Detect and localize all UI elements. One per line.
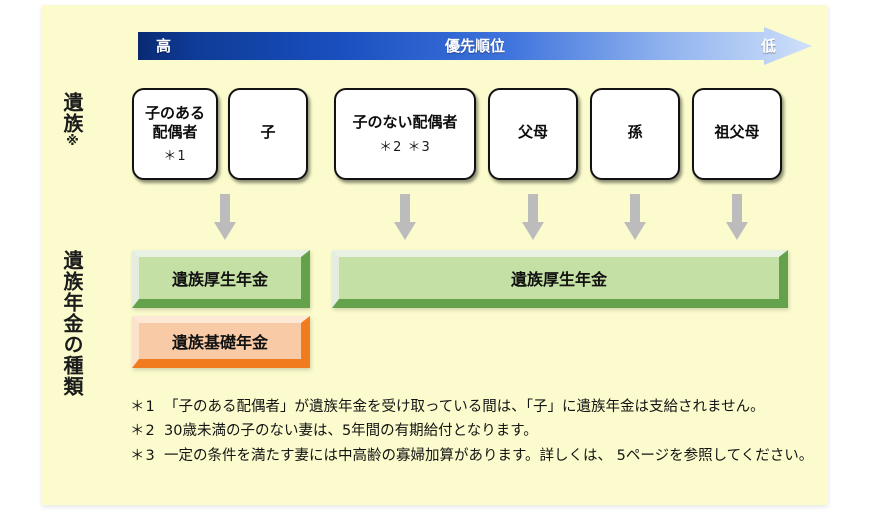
footnote-text: 30歳未満の子のない妻は、5年間の有期給付となります。 <box>164 420 820 442</box>
footnotes-block: ＊1 「子のある配偶者」が遺族年金を受け取っている間は、「子」に遺族年金は支給さ… <box>130 396 820 469</box>
beneficiary-note: ＊2 ＊3 <box>379 136 431 155</box>
pension-bar-kousei-right[interactable]: 遺族厚生年金 <box>332 250 788 308</box>
footnote-marker: ＊2 <box>130 420 164 442</box>
priority-center-label: 優先順位 <box>138 27 812 65</box>
pension-bar-kiso-left[interactable]: 遺族基礎年金 <box>132 316 310 368</box>
beneficiary-title: 父母 <box>518 123 548 142</box>
pension-bar-kousei-left[interactable]: 遺族厚生年金 <box>132 250 310 308</box>
footnote-marker: ＊3 <box>130 445 164 467</box>
beneficiary-title: 孫 <box>627 123 642 142</box>
footnote-row: ＊3 一定の条件を満たす妻には中高齢の寡婦加算があります。詳しくは、 5ページを… <box>130 445 820 467</box>
flow-arrow-down-icon <box>394 194 416 240</box>
priority-low-label: 低 <box>761 27 776 65</box>
side-label-survivor: 遺族※ <box>62 92 82 150</box>
beneficiary-title: 子 <box>260 123 275 142</box>
footnote-text: 一定の条件を満たす妻には中高齢の寡婦加算があります。詳しくは、 5ページを参照し… <box>164 445 820 467</box>
beneficiary-box-child-spouse[interactable]: 子のある 配偶者 ＊1 <box>132 88 218 180</box>
footnote-marker: ＊1 <box>130 396 164 418</box>
beneficiary-box-childless-spouse[interactable]: 子のない配偶者 ＊2 ＊3 <box>334 88 476 180</box>
priority-banner: 高 優先順位 低 <box>138 27 812 65</box>
beneficiary-title: 子のある 配偶者 <box>145 104 205 142</box>
flow-arrow-down-icon <box>522 194 544 240</box>
footnote-row: ＊2 30歳未満の子のない妻は、5年間の有期給付となります。 <box>130 420 820 442</box>
flow-arrow-down-icon <box>214 194 236 240</box>
beneficiary-box-grandparents[interactable]: 祖父母 <box>692 88 782 180</box>
beneficiary-box-parents[interactable]: 父母 <box>488 88 578 180</box>
beneficiary-note: ＊1 <box>163 145 186 164</box>
beneficiary-title: 祖父母 <box>714 123 759 142</box>
side-label-pension-type: 遺族年金の種類 <box>62 250 82 397</box>
flow-arrow-down-icon <box>726 194 748 240</box>
diagram-canvas: 遺族※ 遺族年金の種類 高 優先順位 低 子のある 配偶者 ＊1 <box>0 0 870 512</box>
footnote-text: 「子のある配偶者」が遺族年金を受け取っている間は、「子」に遺族年金は支給されませ… <box>164 396 820 418</box>
beneficiary-box-child[interactable]: 子 <box>228 88 308 180</box>
footnote-row: ＊1 「子のある配偶者」が遺族年金を受け取っている間は、「子」に遺族年金は支給さ… <box>130 396 820 418</box>
flow-arrow-down-icon <box>624 194 646 240</box>
side-label-survivor-text: 遺族 <box>60 92 84 134</box>
side-label-survivor-mark: ※ <box>65 134 80 150</box>
beneficiary-box-grandchild[interactable]: 孫 <box>590 88 680 180</box>
beneficiary-title: 子のない配偶者 <box>352 113 457 132</box>
